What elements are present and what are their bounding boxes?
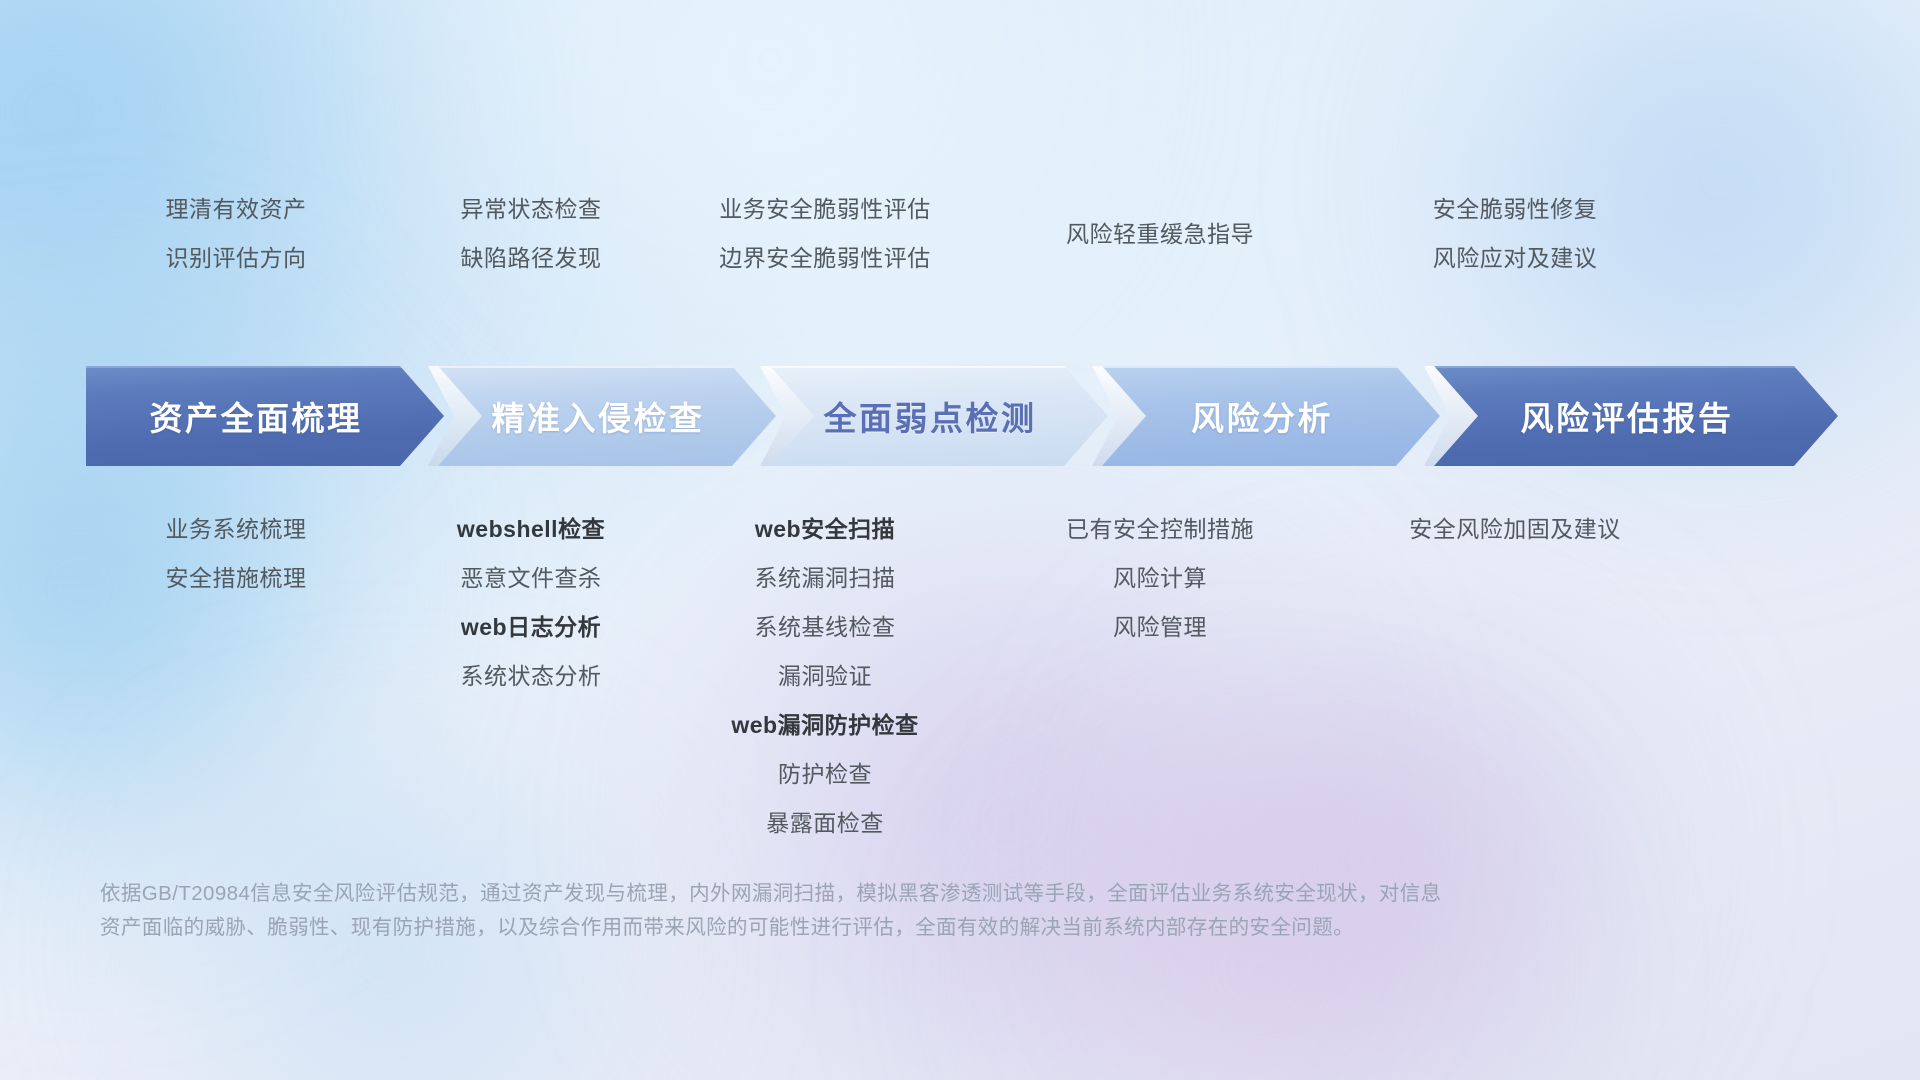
process-stage-intrusion-check[interactable]: 精准入侵检查 [438, 366, 776, 466]
list-item: 暴露面检查 [653, 799, 997, 848]
slide-background: 理清有效资产 识别评估方向 业务系统梳理 安全措施梳理 异常状态检查 缺陷路径发… [0, 0, 1920, 1080]
list-item: 恶意文件查杀 [386, 554, 676, 603]
process-stage-label: 全面弱点检测 [770, 392, 1108, 440]
bottom-item-list: 业务系统梳理 安全措施梳理 [86, 505, 386, 603]
list-item: 漏洞验证 [653, 652, 997, 701]
list-item: 边界安全脆弱性评估 [653, 234, 997, 283]
list-item: 已有安全控制措施 [1005, 505, 1315, 554]
top-item-list: 风险轻重缓急指导 [1005, 210, 1315, 259]
list-item: 理清有效资产 [86, 185, 386, 234]
footer-line-2: 资产面临的威胁、脆弱性、现有防护措施，以及综合作用而带来风险的可能性进行评估，全… [100, 911, 1660, 945]
footer-line-1: 依据GB/T20984信息安全风险评估规范，通过资产发现与梳理，内外网漏洞扫描，… [100, 877, 1660, 911]
process-stage-weakness-detection[interactable]: 全面弱点检测 [770, 366, 1108, 466]
process-arrow-band: 资产全面梳理 精准入侵检查 全面弱点检测 风险分析 [86, 366, 1838, 466]
list-item: 安全脆弱性修复 [1320, 185, 1710, 234]
process-stage-label: 精准入侵检查 [438, 392, 776, 440]
process-stage-asset-inventory[interactable]: 资产全面梳理 [86, 366, 444, 466]
list-item: 风险管理 [1005, 603, 1315, 652]
bottom-item-list: 已有安全控制措施 风险计算 风险管理 [1005, 505, 1315, 652]
process-stage-risk-report[interactable]: 风险评估报告 [1434, 366, 1838, 466]
process-stage-risk-analysis[interactable]: 风险分析 [1102, 366, 1440, 466]
list-item: web漏洞防护检查 [653, 701, 997, 750]
footer-description: 依据GB/T20984信息安全风险评估规范，通过资产发现与梳理，内外网漏洞扫描，… [100, 877, 1660, 945]
list-item: 风险应对及建议 [1320, 234, 1710, 283]
list-item: web安全扫描 [653, 505, 997, 554]
process-stage-label: 资产全面梳理 [86, 392, 444, 440]
list-item: 安全风险加固及建议 [1320, 505, 1710, 554]
list-item: 识别评估方向 [86, 234, 386, 283]
top-item-list: 安全脆弱性修复 风险应对及建议 [1320, 185, 1710, 283]
list-item: web日志分析 [386, 603, 676, 652]
list-item: 系统漏洞扫描 [653, 554, 997, 603]
list-item: 缺陷路径发现 [386, 234, 676, 283]
top-item-list: 理清有效资产 识别评估方向 [86, 185, 386, 283]
list-item: 系统状态分析 [386, 652, 676, 701]
list-item: 防护检查 [653, 750, 997, 799]
list-item: 异常状态检查 [386, 185, 676, 234]
bottom-item-list: 安全风险加固及建议 [1320, 505, 1710, 554]
list-item: 业务安全脆弱性评估 [653, 185, 997, 234]
top-item-list: 异常状态检查 缺陷路径发现 [386, 185, 676, 283]
process-stage-label: 风险评估报告 [1434, 392, 1838, 440]
list-item: 风险轻重缓急指导 [1005, 210, 1315, 259]
top-item-list: 业务安全脆弱性评估 边界安全脆弱性评估 [653, 185, 997, 283]
list-item: 风险计算 [1005, 554, 1315, 603]
bottom-item-list: webshell检查 恶意文件查杀 web日志分析 系统状态分析 [386, 505, 676, 701]
list-item: 系统基线检查 [653, 603, 997, 652]
bottom-item-list: web安全扫描 系统漏洞扫描 系统基线检查 漏洞验证 web漏洞防护检查 防护检… [653, 505, 997, 848]
list-item: 安全措施梳理 [86, 554, 386, 603]
process-diagram: 理清有效资产 识别评估方向 业务系统梳理 安全措施梳理 异常状态检查 缺陷路径发… [0, 0, 1920, 1080]
process-stage-label: 风险分析 [1102, 392, 1440, 440]
list-item: webshell检查 [386, 505, 676, 554]
list-item: 业务系统梳理 [86, 505, 386, 554]
